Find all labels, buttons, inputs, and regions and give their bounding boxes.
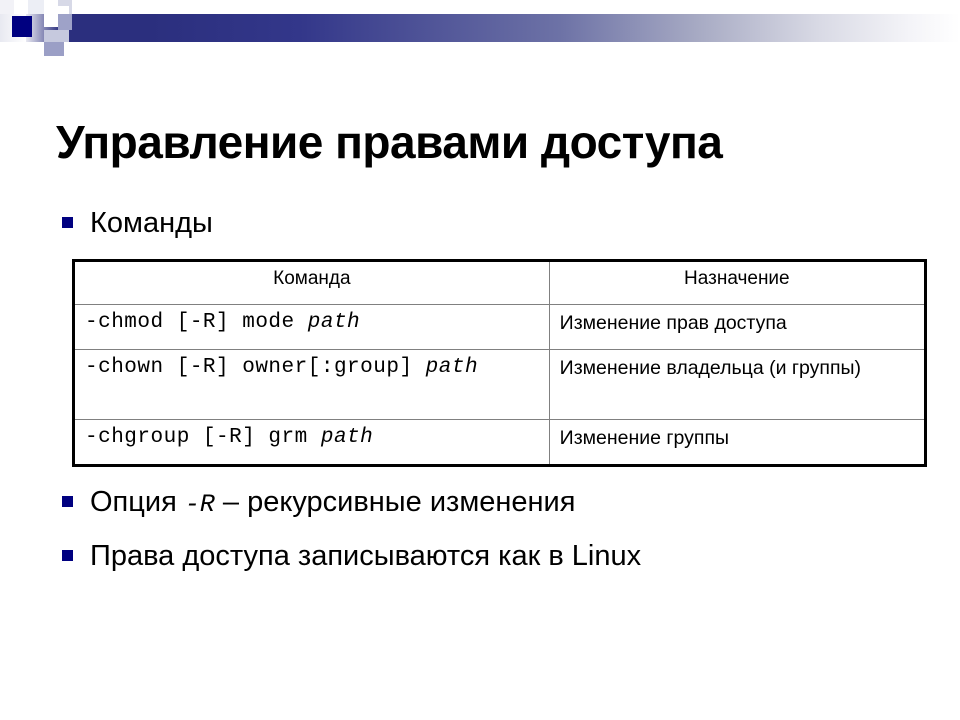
column-header-command: Команда <box>74 261 550 305</box>
table-row: -chgroup [-R] grm path Изменение группы <box>74 420 926 466</box>
square-bullet-icon <box>62 217 73 228</box>
deco-square-pale-2 <box>28 0 44 14</box>
cell-purpose-chown: Изменение владельца (и группы) <box>549 350 925 420</box>
column-header-purpose: Назначение <box>549 261 925 305</box>
deco-square-navy <box>12 16 32 37</box>
option-code: -R <box>185 490 215 519</box>
deco-square-light-blue <box>44 30 69 42</box>
option-suffix: – рекурсивные изменения <box>215 486 576 518</box>
cell-purpose-chgroup: Изменение группы <box>549 420 925 466</box>
cell-command-chmod: -chmod [-R] mode path <box>74 305 550 350</box>
deco-square-periwinkle <box>44 42 64 56</box>
page-title: Управление правами доступа <box>56 117 916 168</box>
bullet-item-commands: Команды <box>62 207 213 240</box>
deco-square-mid-blue <box>58 14 72 30</box>
command-text: -chown [-R] owner[:group] <box>85 356 426 379</box>
table-row: -chmod [-R] mode path Изменение прав дос… <box>74 305 926 350</box>
table-row: -chown [-R] owner[:group] path Изменение… <box>74 350 926 420</box>
command-arg: path <box>426 356 478 379</box>
square-bullet-icon <box>62 550 73 561</box>
command-arg: path <box>321 426 373 449</box>
bullet-label-permissions: Права доступа записываются как в Linux <box>90 540 641 573</box>
deco-square-white-2 <box>72 0 86 14</box>
bullet-item-option: Опция -R – рекурсивные изменения <box>62 486 575 520</box>
slide-header-decoration <box>0 0 960 56</box>
bullet-label-option: Опция -R – рекурсивные изменения <box>90 486 575 520</box>
gradient-band <box>0 14 960 42</box>
cell-command-chown: -chown [-R] owner[:group] path <box>74 350 550 420</box>
commands-table: Команда Назначение -chmod [-R] mode path… <box>72 259 927 467</box>
option-prefix: Опция <box>90 486 185 518</box>
cell-purpose-chmod: Изменение прав доступа <box>549 305 925 350</box>
command-arg: path <box>308 311 360 334</box>
command-text: -chmod [-R] mode <box>85 311 308 334</box>
cell-command-chgroup: -chgroup [-R] grm path <box>74 420 550 466</box>
square-bullet-icon <box>62 496 73 507</box>
deco-square-pale-1 <box>0 0 14 14</box>
bullet-item-permissions: Права доступа записываются как в Linux <box>62 540 641 573</box>
bullet-label-commands: Команды <box>90 207 213 240</box>
table-header-row: Команда Назначение <box>74 261 926 305</box>
command-text: -chgroup [-R] grm <box>85 426 321 449</box>
